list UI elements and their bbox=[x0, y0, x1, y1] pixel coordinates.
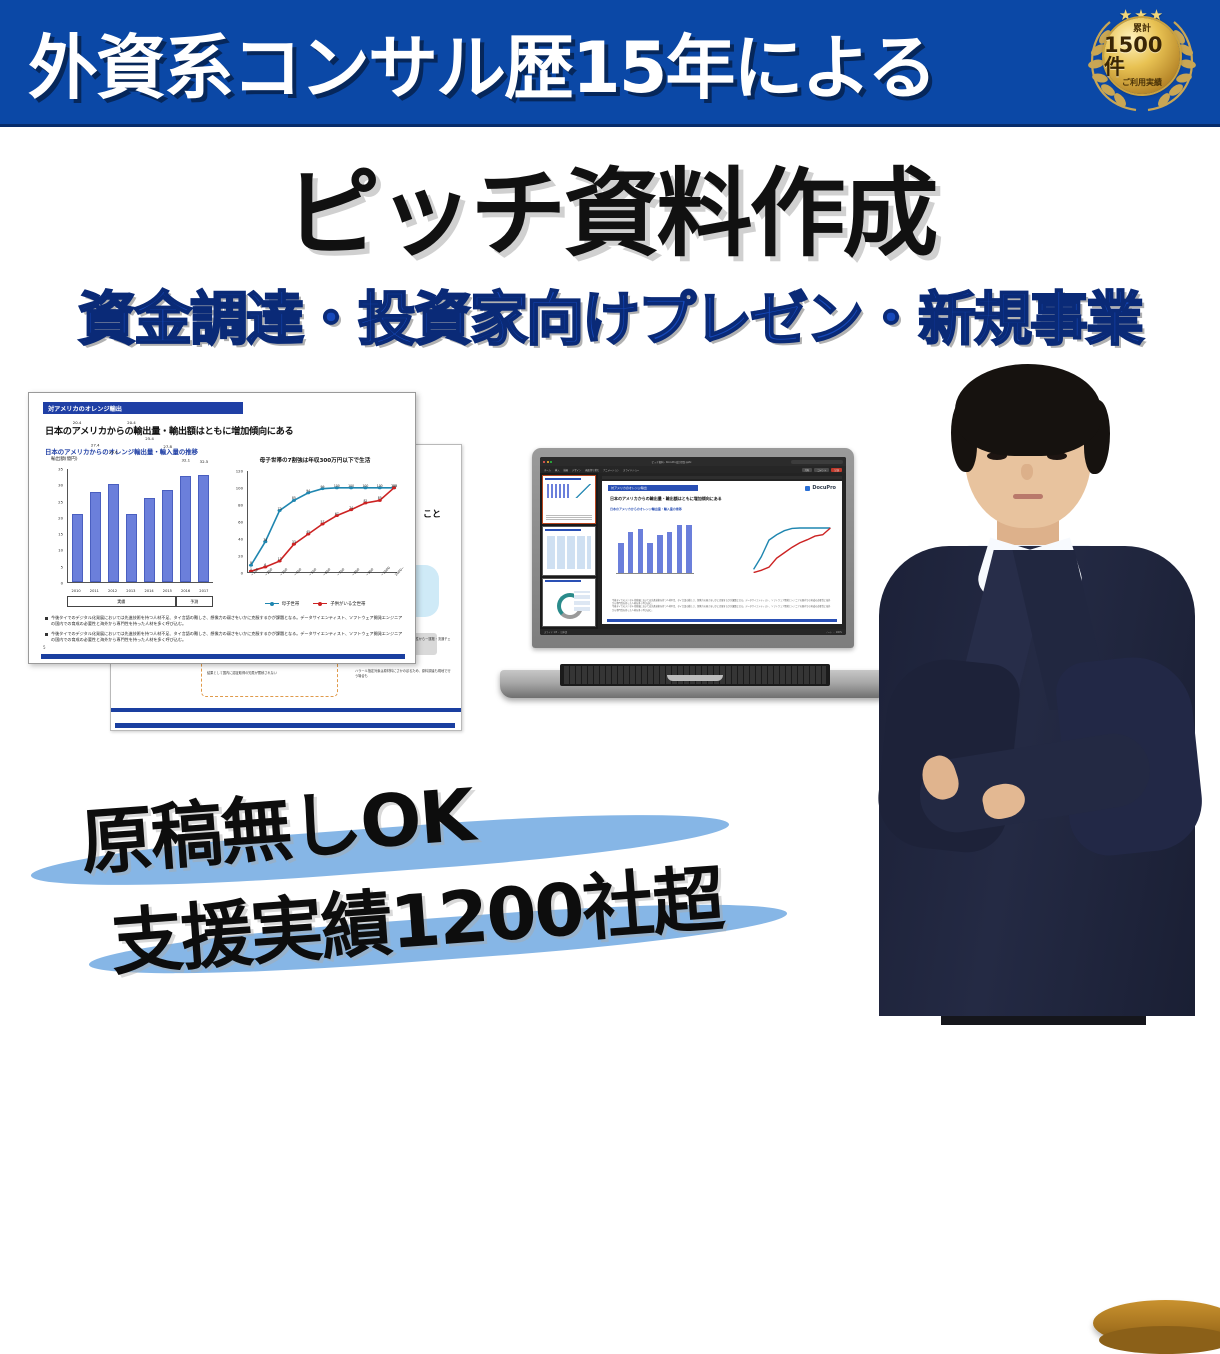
legend-swatch-icon bbox=[313, 603, 327, 604]
bar-chart-group-labels: 実績予測 bbox=[67, 596, 213, 607]
bar-chart-value-label: 27.8 bbox=[163, 444, 172, 468]
ribbon-menu: ホーム 挿入 描画 デザイン 画面切り替え アニメーション スライドショー 共有… bbox=[540, 466, 846, 473]
header-band: 外資系コンサル歴15年による ★★★ bbox=[0, 0, 1220, 127]
line-chart-y-axis: 020406080100120 bbox=[229, 471, 245, 573]
line-chart-legend: 母子世帯子供がいる全世帯 bbox=[229, 601, 401, 607]
status-left: スライド 1/3 ・ 日本語 bbox=[544, 630, 567, 634]
bar-chart-plot: 20.427.429.620.425.427.832.132.5 bbox=[67, 469, 213, 583]
line-chart-ytick: 80 bbox=[238, 502, 243, 507]
page-subtitle: 資金調達・投資家向けプレゼン・新規事業 bbox=[0, 272, 1220, 356]
achievement-badge: ★★★ 累計 1500件 ご利用実績 bbox=[1078, 4, 1206, 124]
bar-chart: 輸出額(億円) 05101520253035 20.427.429.620.42… bbox=[47, 465, 215, 605]
bar-chart-value-label: 25.4 bbox=[145, 436, 154, 468]
legend-label: 母子世帯 bbox=[282, 602, 300, 607]
bar-chart-value-label: 29.6 bbox=[109, 450, 118, 468]
app-body: 対アメリカのオレンジ輸出 DocuPro 日本のアメリカからの輸出量・輸出額はと… bbox=[540, 473, 846, 629]
menu-item-insert[interactable]: 挿入 bbox=[555, 468, 560, 472]
mini-bar bbox=[647, 543, 652, 573]
bar-chart-xtick: 2012 bbox=[105, 589, 120, 593]
slide-bullet: 今後タイでのデジタル化発展においては先進技術を持つ人材不足、タイ言語の難しさ、想… bbox=[45, 631, 403, 643]
line-chart-point-label: 94 bbox=[306, 489, 310, 493]
active-slide-bar-chart bbox=[616, 521, 694, 574]
line-chart-point-label: 100 bbox=[334, 484, 340, 488]
comments-button[interactable]: コメント bbox=[814, 468, 829, 472]
laptop-screen: ピッチ資料 - DocuPro改訂提案.pptx ホーム 挿入 描画 デザイン … bbox=[540, 457, 846, 635]
bar-chart-bar bbox=[72, 514, 83, 582]
person-hair bbox=[955, 364, 1101, 456]
line-chart: 母子世帯の7割強は年収300万円以下で生活 020406080100120 83… bbox=[229, 459, 401, 607]
line-chart-point-label: 100 bbox=[348, 484, 354, 488]
slide-stack: こと 資本が限定的な中小食品メーカーにとって認証取得のために手間やコストからイス… bbox=[28, 392, 468, 732]
bar-chart-bar bbox=[108, 484, 119, 582]
bar-chart-bar bbox=[126, 514, 137, 582]
bar-chart-value-label: 27.4 bbox=[91, 442, 100, 468]
bar-chart-column: 32.1 bbox=[179, 469, 194, 582]
active-slide[interactable]: 対アメリカのオレンジ輸出 DocuPro 日本のアメリカからの輸出量・輸出額はと… bbox=[602, 481, 842, 624]
bar-chart-column: 32.5 bbox=[197, 469, 212, 582]
background-slide-bullet: ハラール指定対象は原材料にさかのぼるため、原料調達も現地で行う場合も bbox=[355, 669, 451, 678]
bar-chart-ytick: 35 bbox=[58, 467, 63, 472]
slide-thumbnail[interactable] bbox=[542, 475, 596, 524]
line-chart-point-label: 100 bbox=[377, 484, 383, 488]
laptop-lid: ピッチ資料 - DocuPro改訂提案.pptx ホーム 挿入 描画 デザイン … bbox=[532, 448, 854, 648]
menu-item-animations[interactable]: アニメーション bbox=[603, 468, 619, 472]
active-slide-subheadline: 日本のアメリカからのオレンジ輸出量・輸入量の推移 bbox=[610, 507, 682, 511]
menu-item-slideshow[interactable]: スライドショー bbox=[623, 468, 639, 472]
line-chart-point-label: 33 bbox=[292, 540, 296, 544]
line-chart-point-label: 73 bbox=[278, 507, 282, 511]
header-title: 外資系コンサル歴15年による bbox=[28, 14, 1038, 110]
bar-chart-bar bbox=[198, 475, 209, 582]
background-slide-bullet: 結果として国内に認証取得の知見が蓄積されない bbox=[207, 671, 333, 676]
bar-chart-group-label: 実績 bbox=[67, 596, 176, 607]
consultant-photo bbox=[855, 360, 1220, 1015]
line-chart-title: 母子世帯の7割強は年収300万円以下で生活 bbox=[229, 456, 401, 464]
app-titlebar: ピッチ資料 - DocuPro改訂提案.pptx bbox=[540, 457, 846, 466]
background-slide-footer-bar bbox=[115, 723, 455, 728]
background-slide-headline: こと bbox=[423, 507, 441, 520]
slide-bullets: 今後タイでのデジタル化発展においては先進技術を持つ人材不足、タイ言語の難しさ、想… bbox=[45, 615, 403, 648]
bar-chart-column: 20.4 bbox=[70, 469, 85, 582]
bar-chart-xtick: 2011 bbox=[87, 589, 102, 593]
window-controls[interactable] bbox=[543, 461, 552, 463]
badge-count: 1500件 bbox=[1104, 34, 1180, 78]
status-bar: スライド 1/3 ・ 日本語 ノート ・ 100% bbox=[540, 629, 846, 635]
record-button[interactable]: 記録 bbox=[831, 468, 842, 472]
line-chart-ytick: 100 bbox=[236, 485, 243, 490]
share-button[interactable]: 共有 bbox=[802, 468, 813, 472]
line-chart-point-label: 57 bbox=[321, 520, 325, 524]
bar-chart-column: 27.8 bbox=[160, 469, 175, 582]
mini-bar bbox=[638, 529, 643, 573]
mini-line-series bbox=[754, 528, 831, 569]
slide-thumbnail-panel[interactable] bbox=[540, 473, 598, 629]
bar-chart-value-label: 32.5 bbox=[200, 459, 209, 468]
line-chart-point-label: 82 bbox=[363, 499, 367, 503]
bar-chart-xtick: 2013 bbox=[124, 589, 139, 593]
background-slide-rule bbox=[111, 708, 461, 712]
slide-headline: 日本のアメリカからの輸出量・輸出額はともに増加傾向にある bbox=[45, 423, 293, 437]
bar-chart-bar bbox=[90, 492, 101, 582]
bar-chart-bar bbox=[180, 476, 191, 582]
active-slide-footer-bar bbox=[607, 619, 837, 622]
line-chart-series bbox=[251, 488, 394, 565]
line-chart-point-label: 85 bbox=[292, 496, 296, 500]
mini-bar bbox=[618, 543, 623, 573]
menu-item-transitions[interactable]: 画面切り替え bbox=[585, 468, 599, 472]
logo-mark-icon bbox=[805, 486, 810, 491]
bar-chart-group-label: 予測 bbox=[176, 596, 214, 607]
slide-bullet: 今後タイでのデジタル化発展においては先進技術を持つ人材不足、タイ言語の難しさ、想… bbox=[45, 615, 403, 627]
bar-chart-column: 20.4 bbox=[124, 469, 139, 582]
bar-chart-xtick: 2014 bbox=[142, 589, 157, 593]
bar-chart-bar bbox=[162, 490, 173, 582]
slide-thumbnail[interactable] bbox=[542, 578, 596, 627]
bar-chart-value-label: 20.4 bbox=[73, 420, 82, 468]
line-chart-point-label: 100 bbox=[391, 484, 397, 488]
laptop-keyboard bbox=[560, 664, 830, 686]
slide-section-tag: 対アメリカのオレンジ輸出 bbox=[43, 402, 243, 414]
bar-chart-column: 25.4 bbox=[142, 469, 157, 582]
active-slide-bullet: 今後タイでのデジタル化発展においては先進技術を持つ人材不足、タイ言語の難しさ、想… bbox=[612, 605, 832, 612]
bar-chart-xtick: 2017 bbox=[197, 589, 212, 593]
bar-chart-y-axis: 05101520253035 bbox=[47, 469, 65, 583]
bar-chart-ytick: 15 bbox=[58, 532, 63, 537]
front-slide: 対アメリカのオレンジ輸出 日本のアメリカからの輸出量・輸出額はともに増加傾向にあ… bbox=[28, 392, 416, 664]
mini-line-series bbox=[754, 528, 831, 573]
bar-chart-ytick: 30 bbox=[58, 483, 63, 488]
mini-bar bbox=[686, 525, 691, 573]
line-chart-x-axis: ~100~200~300~400~500~600~700~800~900~100… bbox=[247, 573, 397, 593]
page-title: ピッチ資料作成 bbox=[0, 136, 1220, 275]
line-chart-point-label: 67 bbox=[335, 512, 339, 516]
mini-bar bbox=[667, 532, 672, 573]
line-chart-ytick: 120 bbox=[236, 469, 243, 474]
mini-bar bbox=[677, 525, 682, 573]
badge-sub-label: ご利用実績 bbox=[1122, 78, 1162, 88]
bar-chart-xtick: 2010 bbox=[69, 589, 84, 593]
bar-chart-x-axis: 20102011201220132014201520162017 bbox=[67, 589, 213, 593]
bar-chart-value-label: 32.1 bbox=[181, 458, 190, 468]
bar-chart-bar bbox=[144, 498, 155, 582]
line-chart-point-label: 36 bbox=[263, 538, 267, 542]
line-chart-legend-item: 母子世帯 bbox=[265, 601, 300, 607]
person-mouth bbox=[1013, 494, 1043, 499]
document-title: ピッチ資料 - DocuPro改訂提案.pptx bbox=[554, 460, 789, 464]
line-chart-point-label: 8 bbox=[250, 561, 252, 565]
line-chart-plot: 8367385949910010010010010016133345576774… bbox=[247, 471, 397, 573]
docupro-logo: DocuPro bbox=[805, 485, 836, 491]
slide-thumbnail[interactable] bbox=[542, 526, 596, 575]
active-slide-tag: 対アメリカのオレンジ輸出 bbox=[608, 485, 698, 491]
line-chart-point-label: 100 bbox=[362, 484, 368, 488]
bar-chart-column: 29.6 bbox=[106, 469, 121, 582]
mini-bar bbox=[628, 532, 633, 573]
line-chart-point-label: 74 bbox=[349, 506, 353, 510]
line-chart-point-label: 13 bbox=[278, 557, 282, 561]
line-chart-point-label: 6 bbox=[264, 563, 266, 567]
bar-chart-bars: 20.427.429.620.425.427.832.132.5 bbox=[68, 469, 213, 582]
status-right: ノート ・ 100% bbox=[826, 630, 842, 634]
laptop-base bbox=[500, 670, 890, 698]
line-chart-legend-item: 子供がいる全世帯 bbox=[313, 601, 365, 607]
active-slide-line-chart bbox=[752, 519, 832, 573]
active-slide-bullets: 今後タイでのデジタル化発展においては先進技術を持つ人材不足、タイ言語の難しさ、想… bbox=[612, 599, 832, 612]
slide-subheadline: 日本のアメリカからのオレンジ輸出量・輸入量の推移 bbox=[45, 447, 198, 456]
menu-item-home[interactable]: ホーム bbox=[544, 468, 551, 472]
ruler bbox=[602, 476, 842, 479]
bar-chart-column: 27.4 bbox=[88, 469, 103, 582]
line-chart-ytick: 60 bbox=[238, 520, 243, 525]
slide-footer-bar bbox=[41, 654, 405, 659]
line-chart-ytick: 20 bbox=[238, 554, 243, 559]
bar-chart-value-label: 20.4 bbox=[127, 420, 136, 468]
bar-chart-xtick: 2016 bbox=[178, 589, 193, 593]
logo-text: DocuPro bbox=[812, 485, 836, 491]
slide-page-number: 5 bbox=[43, 645, 46, 650]
legend-swatch-icon bbox=[265, 603, 279, 604]
slide-canvas-area: 対アメリカのオレンジ輸出 DocuPro 日本のアメリカからの輸出量・輸出額はと… bbox=[598, 473, 846, 629]
bar-chart-ytick: 5 bbox=[61, 564, 63, 569]
active-slide-headline: 日本のアメリカからの輸出量・輸出額はともに増加傾向にある bbox=[610, 496, 722, 502]
line-chart-ytick: 0 bbox=[241, 571, 243, 576]
laptop-mockup: ピッチ資料 - DocuPro改訂提案.pptx ホーム 挿入 描画 デザイン … bbox=[500, 448, 890, 698]
menu-item-design[interactable]: デザイン bbox=[572, 468, 581, 472]
bar-chart-xtick: 2015 bbox=[160, 589, 175, 593]
menu-item-draw[interactable]: 描画 bbox=[563, 468, 568, 472]
bar-chart-ytick: 25 bbox=[58, 499, 63, 504]
stool-base bbox=[1099, 1326, 1220, 1354]
person-nose bbox=[1021, 464, 1033, 480]
badge-disc: 累計 1500件 ご利用実績 bbox=[1104, 18, 1180, 94]
mini-bar bbox=[657, 535, 662, 573]
search-input[interactable] bbox=[791, 460, 843, 464]
bar-chart-ytick: 10 bbox=[58, 548, 63, 553]
line-chart-ytick: 40 bbox=[238, 536, 243, 541]
line-chart-point-label: 99 bbox=[321, 485, 325, 489]
bar-chart-ytick: 0 bbox=[61, 581, 63, 586]
bar-chart-ytick: 20 bbox=[58, 515, 63, 520]
line-chart-point-label: 45 bbox=[306, 530, 310, 534]
line-chart-point-label: 85 bbox=[378, 496, 382, 500]
legend-label: 子供がいる全世帯 bbox=[330, 602, 365, 607]
line-chart-series bbox=[251, 488, 394, 571]
